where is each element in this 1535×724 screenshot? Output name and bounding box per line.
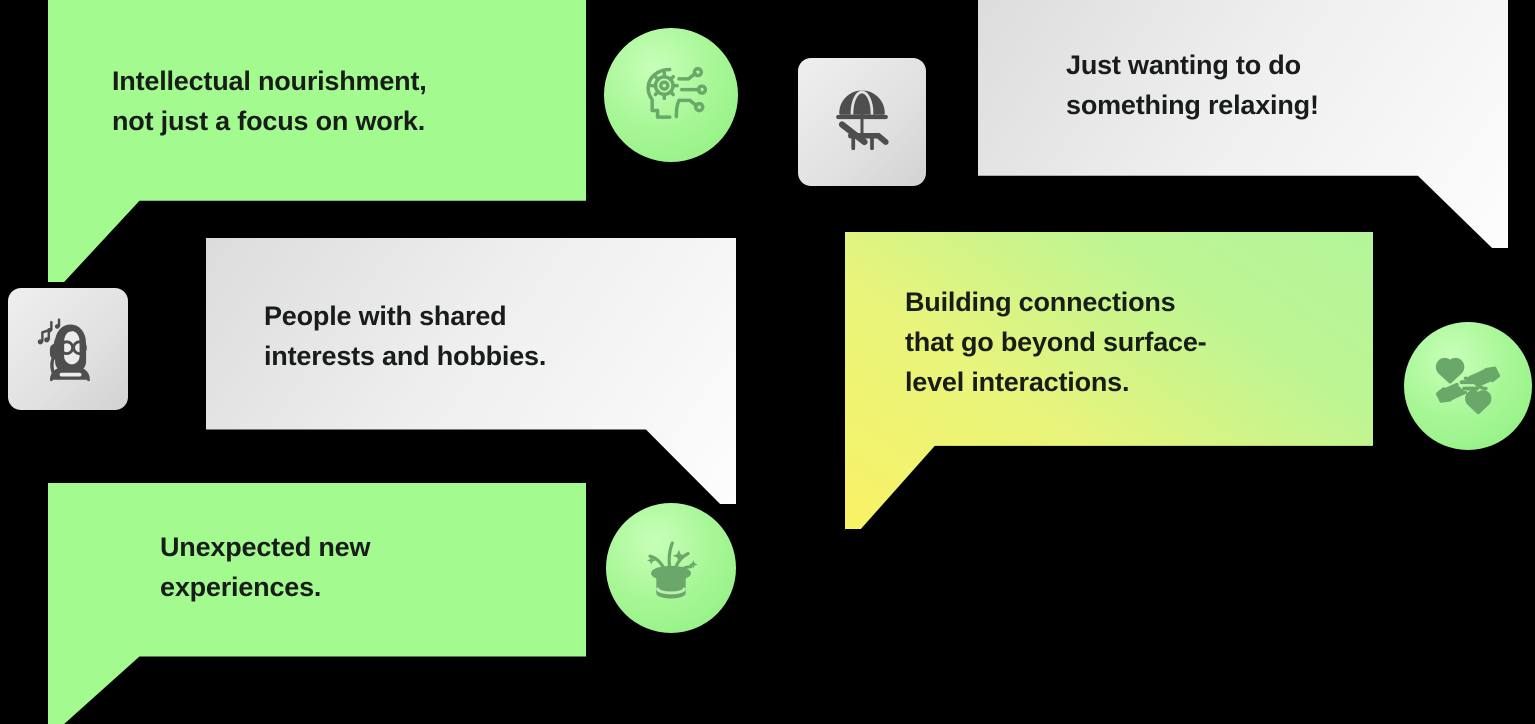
badge-magic-hat xyxy=(606,503,736,633)
speech-bubble-unexpected-text: Unexpected new experiences. xyxy=(48,527,370,681)
speech-bubble-people-text: People with shared interests and hobbies… xyxy=(206,296,546,446)
speech-bubble-relaxing-text: Just wanting to do something relaxing! xyxy=(978,45,1319,193)
magic-hat-sparkles-icon xyxy=(629,526,713,610)
badge-brain-gear-circuit xyxy=(604,28,738,162)
speech-bubble-collage: Intellectual nourishment, not just a foc… xyxy=(0,0,1535,724)
speech-bubble-connections: Building connections that go beyond surf… xyxy=(845,232,1373,529)
person-headphones-music-icon xyxy=(27,308,109,390)
speech-bubble-connections-text: Building connections that go beyond surf… xyxy=(845,282,1206,480)
speech-bubble-intellectual-text: Intellectual nourishment, not just a foc… xyxy=(48,61,427,213)
speech-bubble-people: People with shared interests and hobbies… xyxy=(206,238,736,504)
badge-person-headphones xyxy=(8,288,128,410)
hands-exchanging-hearts-icon xyxy=(1427,345,1509,427)
speech-bubble-relaxing: Just wanting to do something relaxing! xyxy=(978,0,1508,248)
beach-umbrella-lounger-icon xyxy=(822,82,902,162)
brain-gear-circuit-icon xyxy=(628,52,714,138)
speech-bubble-unexpected: Unexpected new experiences. xyxy=(48,483,586,724)
badge-hands-hearts xyxy=(1404,322,1532,450)
badge-beach-umbrella xyxy=(798,58,926,186)
